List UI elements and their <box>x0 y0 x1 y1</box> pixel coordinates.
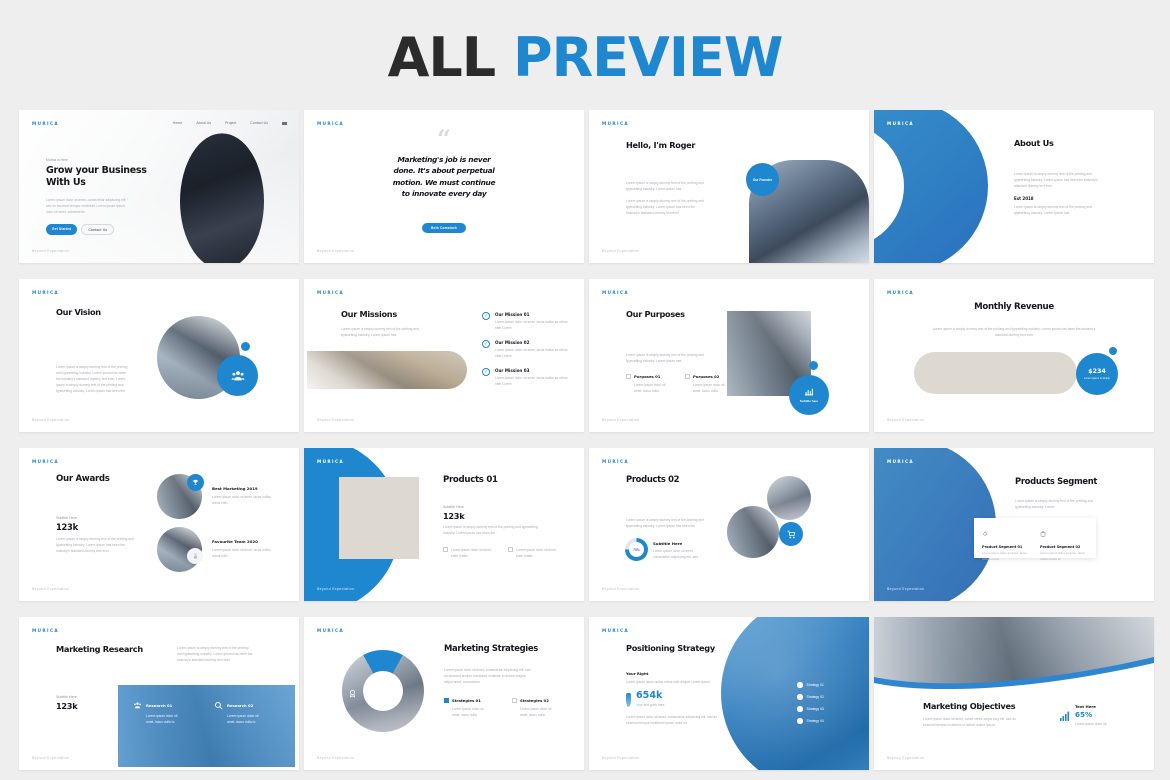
slide-logo: MURICA <box>887 121 914 126</box>
slide-positioning-strategy[interactable]: MURICA Positioning Strategy Your Right L… <box>589 617 869 770</box>
slide-logo: MURICA <box>602 121 629 126</box>
mission-item[interactable]: ✓ Our Mission 01 Lorem ipsum dolor sit a… <box>482 312 572 331</box>
slide-title: Hello, I'm Roger <box>626 140 721 150</box>
research-text: Lorem ipsum dolor sit amet, lacus nulla … <box>227 713 265 725</box>
quote-line-4: to innovate every day <box>344 188 544 199</box>
slide-title: Positioning Strategy <box>626 643 746 653</box>
revenue-photo <box>914 352 1077 394</box>
research-text: Lorem ipsum dolor sit amet, lacus nulla … <box>146 713 184 725</box>
slide-logo: MURICA <box>602 290 629 295</box>
mission-text: Lorem ipsum dolor sit amet, lacus nullus… <box>495 319 572 331</box>
slide-footer: Beyond Expectation <box>317 249 354 253</box>
segment-card-label: Product Segment 01 <box>982 545 1030 549</box>
founder-badge: Our Founder <box>746 163 779 196</box>
slide-our-purposes[interactable]: MURICA Subtitle here Our Purposes Lorem … <box>589 279 869 432</box>
strategy-list-item[interactable]: Strategy 03 <box>797 706 824 712</box>
products-body: Lorem ipsum is simply dummy text of the … <box>443 524 539 536</box>
award-name: Favourite Team 2020 <box>212 539 272 544</box>
slide-marketing-objectives[interactable]: Marketing Objectives Lorem ipsum dolor s… <box>874 617 1154 770</box>
slide-nav[interactable]: Home About Us Project Contact Us <box>173 121 287 125</box>
donut-value: 75% <box>629 542 644 557</box>
products-bullet[interactable]: Lorem ipsum dolor sit amet, enim mattis <box>443 547 498 559</box>
research-label: Research 01 <box>146 703 172 708</box>
quote-author-button[interactable]: Beth Comstock <box>422 223 466 232</box>
strategy-list-label: Strategy 03 <box>807 707 824 711</box>
segment-card[interactable]: Product Segment 02 Lorem ipsum dolor sit… <box>1040 524 1088 552</box>
menu-icon[interactable] <box>282 122 287 125</box>
products-item-text: Lorem ipsum dolor sit amet, consectetur … <box>653 548 711 560</box>
research-label: Research 02 <box>227 703 253 708</box>
slide-our-awards[interactable]: MURICA Our Awards Subtitle Here 123k Lor… <box>19 448 299 601</box>
check-icon: ✓ <box>482 368 490 376</box>
slide-logo: MURICA <box>317 290 344 295</box>
check-icon: ✓ <box>482 312 490 320</box>
slide-title: Products 02 <box>626 474 679 484</box>
purpose-label: Purposes 01 <box>634 374 660 379</box>
slide-footer: Beyond Expectation <box>32 756 69 760</box>
slide-title: Marketing Research <box>56 644 156 654</box>
segment-card[interactable]: Product Segment 01 Lorem ipsum dolor sit… <box>982 524 1030 552</box>
slide-logo: MURICA <box>887 290 914 295</box>
square-icon <box>626 374 631 379</box>
mission-item[interactable]: ✓ Our Mission 03 Lorem ipsum dolor sit a… <box>482 368 572 387</box>
award-item[interactable]: Best Marketing 2019 Lorem ipsum dolor si… <box>212 486 272 506</box>
award-icon-badge-1 <box>187 474 204 491</box>
mission-item[interactable]: ✓ Our Mission 02 Lorem ipsum dolor sit a… <box>482 340 572 359</box>
missions-photo <box>307 351 467 389</box>
slide-body-1: Lorem ipsum is simply dummy text of the … <box>626 180 704 192</box>
awards-subtitle-label: Subtitle Here <box>56 516 134 520</box>
segment-card-panel: Product Segment 01 Lorem ipsum dolor sit… <box>974 518 1096 558</box>
purposes-badge: Subtitle here <box>789 375 829 415</box>
strategy-text: Lorem ipsum dolor sit amet, lacus nulla <box>452 706 492 718</box>
chart-icon <box>804 387 814 397</box>
page-title-dark: ALL <box>388 26 496 89</box>
page-header: ALL PREVIEW <box>0 0 1170 85</box>
slide-footer: Beyond Expectation <box>32 587 69 591</box>
slide-footer: Beyond Expectation <box>887 418 924 422</box>
check-icon: ✓ <box>482 340 490 348</box>
segment-card-text: Lorem ipsum dolor sit amet, lacus nullus… <box>982 551 1030 562</box>
positioning-marker-icon <box>626 693 631 707</box>
purposes-badge-label: Subtitle here <box>800 399 818 403</box>
products-subtitle-value: 123k <box>443 511 568 521</box>
slide-footer: Beyond Expectation <box>602 249 639 253</box>
square-icon <box>508 547 513 552</box>
strategy-label: Strategies 02 <box>520 698 549 703</box>
slide-grow-your-business[interactable]: MURICA Home About Us Project Contact Us … <box>19 110 299 263</box>
founder-badge-label: Our Founder <box>753 178 772 182</box>
square-icon <box>444 698 449 703</box>
slide-logo: MURICA <box>32 290 59 295</box>
quote-mark-icon: “ <box>437 132 451 146</box>
strategy-item[interactable]: Strategies 02 Lorem ipsum dolor sit amet… <box>512 698 560 718</box>
slide-marketing-research[interactable]: MURICA Marketing Research Lorem ipsum is… <box>19 617 299 770</box>
slide-body: Lorem ipsum dolor sit amet, conse ctetur… <box>923 716 1027 728</box>
slide-title: Our Awards <box>56 474 110 484</box>
slide-title: About Us <box>1014 138 1134 148</box>
page-title: ALL PREVIEW <box>0 31 1170 85</box>
slide-body: Lorem ipsum is simply dummy text of the … <box>177 645 253 663</box>
quote-line-3: motion. We must continue <box>344 177 544 188</box>
slide-body: Lorem ipsum dolor sit amet, consectetur … <box>444 667 534 685</box>
mission-label: Our Mission 01 <box>495 312 572 317</box>
products-bullet[interactable]: Lorem ipsum dolor sit amet, enim mattis <box>508 547 563 559</box>
research-blue-panel: Research 01 Lorem ipsum dolor sit amet, … <box>118 685 295 767</box>
nav-item-contact[interactable]: Contact Us <box>250 121 268 125</box>
slide-footer: Beyond Expectation <box>32 418 69 422</box>
research-item[interactable]: Research 01 Lorem ipsum dolor sit amet, … <box>133 701 198 725</box>
contact-us-button[interactable]: Contact Us <box>81 224 114 235</box>
award-item[interactable]: Favourite Team 2020 Lorem ipsum dolor si… <box>212 539 272 559</box>
search-icon <box>214 701 223 710</box>
slide-title: Monthly Revenue <box>874 302 1154 312</box>
slide-title: Products Segment <box>1015 476 1145 486</box>
objectives-stat-label: Text Here <box>1075 704 1107 709</box>
purposes-accent-dot <box>809 361 818 370</box>
revenue-badge-sub: Lorem ipsum is simply <box>1082 377 1112 381</box>
bar-chart-icon <box>1059 710 1071 722</box>
hero-title-line2: With Us <box>46 177 164 189</box>
segment-card-text: Lorem ipsum dolor sit amet, lacus nullus… <box>1040 551 1088 562</box>
products-photo-bottom <box>727 506 779 558</box>
purpose-item[interactable]: Purposes 02 Lorem ipsum dolor sit amet, … <box>685 374 730 394</box>
hero-title-line1: Grow your Business <box>46 165 164 177</box>
award-name: Best Marketing 2019 <box>212 486 272 491</box>
products-bullet-text: Lorem ipsum dolor sit amet, enim mattis <box>451 547 498 559</box>
hero-eyebrow: Murica is Here <box>46 158 164 162</box>
products-item-label: Subtitle Here <box>653 541 711 546</box>
slide-body-2: Lorem ipsum is simply dummy text of the … <box>1014 204 1100 216</box>
products-photo <box>339 477 419 559</box>
positioning-stat-value: 654k <box>636 691 664 701</box>
bullet-icon <box>797 682 803 688</box>
preview-page: ALL PREVIEW MURICA Home About Us Project… <box>0 0 1170 780</box>
slide-body: Lorem ipsum is simply dummy text of the … <box>341 326 421 338</box>
products-item[interactable]: Subtitle Here Lorem ipsum dolor sit amet… <box>653 541 711 560</box>
strategy-list-item[interactable]: Strategy 02 <box>797 694 824 700</box>
research-item[interactable]: Research 02 Lorem ipsum dolor sit amet, … <box>214 701 279 725</box>
est-label: Est 2018 <box>1014 196 1134 201</box>
bullet-icon <box>797 706 803 712</box>
slide-logo: MURICA <box>317 121 344 126</box>
slide-body: Lorem ipsum is simply dummy text of the … <box>932 326 1096 338</box>
slide-logo: MURICA <box>317 628 344 633</box>
slide-title: Our Missions <box>341 309 461 319</box>
slide-logo: MURICA <box>32 459 59 464</box>
purpose-text: Lorem ipsum dolor sit amet, lacus nulla <box>634 382 671 394</box>
hero-body: Lorem ipsum dolor sit amet, consectetur … <box>46 197 128 215</box>
slide-body: Lorem ipsum is simply dummy text of the … <box>56 364 131 394</box>
strategy-list-label: Strategy 01 <box>807 683 824 687</box>
strategy-label: Strategies 01 <box>452 698 481 703</box>
slide-hello-im-roger[interactable]: MURICA Our Founder Hello, I'm Roger Lore… <box>589 110 869 263</box>
research-subtitle-label: Subtitle Here <box>56 695 116 699</box>
slide-footer: Beyond Expectation <box>317 418 354 422</box>
strategy-list-item[interactable]: Strategy 04 <box>797 718 824 724</box>
slide-body-2: Lorem ipsum is simply dummy text of the … <box>626 198 704 216</box>
products-donut-chart: 75% <box>625 538 648 561</box>
slide-footer: Beyond Expectation <box>887 587 924 591</box>
people-icon <box>231 369 245 383</box>
strategy-list-label: Strategy 02 <box>807 695 824 699</box>
people-icon <box>133 701 142 710</box>
strategies-donut-icon-wrap <box>348 685 357 703</box>
mission-text: Lorem ipsum dolor sit amet, lacus nullus… <box>495 375 572 387</box>
research-subtitle-value: 123k <box>56 701 116 711</box>
slide-footer: Beyond Expectation <box>317 587 354 591</box>
square-icon <box>512 698 517 703</box>
trophy-icon <box>192 479 199 486</box>
bullet-icon <box>797 718 803 724</box>
segment-card-label: Product Segment 02 <box>1040 545 1088 549</box>
positioning-eyebrow: Your Right <box>626 671 726 676</box>
slide-footer: Beyond Expectation <box>602 418 639 422</box>
slide-about-us[interactable]: MURICA About Us Lorem ipsum is simply du… <box>874 110 1154 263</box>
slide-body-1: Lorem ipsum is simply dummy text of the … <box>1014 171 1100 189</box>
quote-line-2: done. It's about perpetual <box>344 165 544 176</box>
positioning-stat-label: Your text goes here <box>636 702 664 708</box>
slide-footer: Beyond Expectation <box>602 756 639 760</box>
slide-title: Our Purposes <box>626 309 736 319</box>
purpose-text: Lorem ipsum dolor sit amet, lacus nulla <box>693 382 730 394</box>
award-icon-badge-2 <box>187 548 203 564</box>
positioning-body-bottom: Lorem ipsum dolor sit amet, consectetur … <box>626 714 720 726</box>
revenue-badge-value: $234 <box>1088 367 1106 375</box>
slide-our-missions[interactable]: MURICA Our Missions Lorem ipsum is simpl… <box>304 279 584 432</box>
slide-body: Lorem ipsum is simply dummy text of the … <box>1015 498 1101 510</box>
drop-icon <box>982 531 988 537</box>
slide-title: Marketing Strategies <box>444 643 570 653</box>
nav-item-project[interactable]: Project <box>225 121 236 125</box>
awards-body: Lorem ipsum is simply dummy text of the … <box>56 536 134 554</box>
slide-our-vision[interactable]: MURICA Our Vision Lorem ipsum is simply … <box>19 279 299 432</box>
slide-quote[interactable]: MURICA “ Marketing's job is never done. … <box>304 110 584 263</box>
slide-footer: Beyond Expectation <box>602 587 639 591</box>
slide-logo: MURICA <box>602 459 629 464</box>
purpose-label: Purposes 02 <box>693 374 719 379</box>
square-icon <box>443 547 448 552</box>
slide-footer: Beyond Expectation <box>32 249 69 253</box>
medal-icon <box>192 553 199 560</box>
quote-line-1: Marketing's job is never <box>344 154 544 165</box>
strategy-list-label: Strategy 04 <box>807 719 824 723</box>
objectives-stat-sub: Lorem ipsum dolor sit <box>1075 721 1107 727</box>
vision-icon-badge <box>217 355 258 396</box>
slide-title: Products 01 <box>443 475 568 485</box>
positioning-body-top: Lorem ipsum lacus nullus rebus nibh aliq… <box>626 679 726 685</box>
strategy-list-item[interactable]: Strategy 01 <box>797 682 824 688</box>
strategy-text: Lorem ipsum dolor sit amet, lacus nulla <box>520 706 560 718</box>
badge-icon <box>348 689 357 698</box>
mission-text: Lorem ipsum dolor sit amet, lacus nullus… <box>495 347 572 359</box>
nav-item-about[interactable]: About Us <box>196 121 211 125</box>
slide-title: Marketing Objectives <box>923 701 1063 711</box>
cart-icon <box>787 530 796 539</box>
mission-label: Our Mission 02 <box>495 340 572 345</box>
slide-marketing-strategies[interactable]: MURICA Marketing Strategies Lorem ipsum … <box>304 617 584 770</box>
slide-logo: MURICA <box>602 628 629 633</box>
slide-footer: Beyond Expectation <box>887 756 924 760</box>
products-subtitle-label: Subtitle Here <box>443 505 568 509</box>
slide-footer: Beyond Expectation <box>317 756 354 760</box>
nav-item-home[interactable]: Home <box>173 121 183 125</box>
products-photo-top <box>767 476 811 520</box>
get-started-button[interactable]: Get Started <box>46 224 77 235</box>
products-bullet-text: Lorem ipsum dolor sit amet, enim mattis <box>516 547 563 559</box>
slide-products-02[interactable]: MURICA Products 02 Lorem ipsum is simply… <box>589 448 869 601</box>
bag-icon <box>1040 531 1046 537</box>
slide-grid: MURICA Home About Us Project Contact Us … <box>19 110 1155 770</box>
slide-products-segment[interactable]: MURICA Beyond Expectation Products Segme… <box>874 448 1154 601</box>
products-cart-badge <box>779 522 803 546</box>
slide-logo: MURICA <box>32 121 59 126</box>
slide-body: Lorem ipsum is simply dummy text of the … <box>626 352 706 364</box>
objectives-stat-value: 65% <box>1075 710 1107 719</box>
revenue-badge: $234 Lorem ipsum is simply <box>1076 353 1118 395</box>
awards-subtitle-value: 123k <box>56 522 134 532</box>
revenue-accent-dot <box>1109 347 1117 355</box>
slide-logo: MURICA <box>32 628 59 633</box>
strategy-item[interactable]: Strategies 01 Lorem ipsum dolor sit amet… <box>444 698 492 718</box>
slide-title: Our Vision <box>56 307 101 317</box>
slide-products-01[interactable]: MURICA Beyond Expectation Products 01 Su… <box>304 448 584 601</box>
slide-logo: MURICA <box>317 459 344 464</box>
mission-label: Our Mission 03 <box>495 368 572 373</box>
slide-monthly-revenue[interactable]: MURICA Monthly Revenue Lorem ipsum is si… <box>874 279 1154 432</box>
page-title-blue: PREVIEW <box>513 26 782 89</box>
slide-logo: MURICA <box>887 459 914 464</box>
purpose-item[interactable]: Purposes 01 Lorem ipsum dolor sit amet, … <box>626 374 671 394</box>
award-text: Lorem ipsum dolor sit amet, lacus nullus… <box>212 547 272 559</box>
award-text: Lorem ipsum dolor sit amet, lacus nullus… <box>212 494 272 506</box>
vision-accent-dot <box>241 342 250 351</box>
slide-body: Lorem ipsum is simply dummy text of the … <box>626 517 706 529</box>
bullet-icon <box>797 694 803 700</box>
square-icon <box>685 374 690 379</box>
